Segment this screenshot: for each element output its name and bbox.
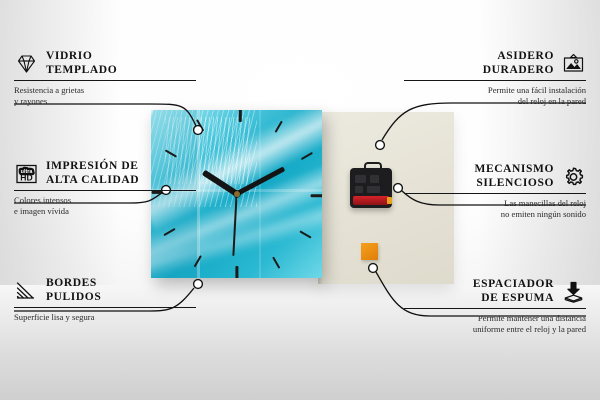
feature-title-line2: TEMPLADO [46, 64, 117, 78]
clock-tick [299, 230, 311, 239]
feature-desc-line1: Colores intensos [14, 195, 196, 206]
clock-tick [310, 194, 322, 197]
mechanism-slot-4 [367, 186, 380, 193]
feature-title-line1: ASIDERO [483, 50, 554, 64]
mechanism-slot-1 [355, 175, 366, 183]
feature-title-line1: BORDES [46, 277, 101, 291]
feature-bordes-pulidos[interactable]: BORDES PULIDOS Superficie lisa y segura [14, 277, 196, 323]
feature-desc-line1: Superficie lisa y segura [14, 312, 196, 323]
feature-desc-line2: uniforme entre el reloj y la pared [404, 324, 586, 335]
foam-spacer-sample [361, 243, 378, 260]
ultra-hd-icon: ultra HD [14, 162, 39, 186]
polished-edges-icon [14, 279, 39, 303]
feature-desc-line2: y rayones [14, 96, 196, 107]
feature-title-line2: DURADERO [483, 64, 554, 78]
clock-tick [274, 120, 283, 132]
svg-text:HD: HD [20, 172, 32, 182]
mechanism-hanger-hook [364, 162, 382, 172]
feature-title-line1: VIDRIO [46, 50, 117, 64]
feature-desc-line2: e imagen vívida [14, 206, 196, 217]
feature-divider [14, 80, 196, 81]
feature-vidrio-templado[interactable]: VIDRIO TEMPLADO Resistencia a grietas y … [14, 50, 196, 106]
feature-divider [14, 307, 196, 308]
clock-tick [235, 266, 238, 278]
feature-impresion-alta-calidad[interactable]: ultra HD IMPRESIÓN DE ALTA CALIDAD Color… [14, 160, 196, 216]
diamond-icon [14, 52, 39, 76]
feature-title-line2: SILENCIOSO [474, 177, 554, 191]
feature-espaciador-de-espuma[interactable]: ESPACIADOR DE ESPUMA Permite mantener un… [404, 278, 586, 334]
infographic-canvas: VIDRIO TEMPLADO Resistencia a grietas y … [0, 0, 600, 400]
clock-tick [163, 228, 175, 237]
feature-title-line1: ESPACIADOR [473, 278, 554, 292]
feature-title-line1: IMPRESIÓN DE [46, 160, 139, 174]
mechanism-slot-3 [355, 186, 363, 193]
feature-desc-line1: Permite una fácil instalación [404, 85, 586, 96]
press-down-pad-icon [561, 280, 586, 304]
battery-positive-terminal [387, 197, 392, 204]
feature-desc-line1: Las manecillas del reloj [404, 198, 586, 209]
clock-tick [238, 110, 241, 122]
clock-tick [164, 149, 176, 158]
feature-title-line2: PULIDOS [46, 291, 101, 305]
feature-desc-line2: no emiten ningún sonido [404, 209, 586, 220]
mechanism-slot-2 [370, 175, 379, 183]
feature-asidero-duradero[interactable]: ASIDERO DURADERO Permite una fácil insta… [404, 50, 586, 106]
gear-icon [561, 165, 586, 189]
clock-tick [272, 256, 281, 268]
clock-battery [353, 196, 389, 205]
feature-divider [404, 80, 586, 81]
clock-tick [195, 119, 204, 131]
picture-hanger-icon [561, 52, 586, 76]
feature-desc-line1: Permite mantener una distancia [404, 313, 586, 324]
feature-divider [404, 308, 586, 309]
feature-divider [14, 190, 196, 191]
feature-title-line2: DE ESPUMA [473, 292, 554, 306]
clock-tick [193, 255, 202, 267]
clock-center-pin [234, 191, 240, 197]
feature-title-line1: MECANISMO [474, 163, 554, 177]
feature-desc-line2: del reloj en la pared [404, 96, 586, 107]
feature-title-line2: ALTA CALIDAD [46, 174, 139, 188]
clock-tick [300, 152, 312, 161]
feature-divider [404, 193, 586, 194]
feature-desc-line1: Resistencia a grietas [14, 85, 196, 96]
feature-mecanismo-silencioso[interactable]: MECANISMO SILENCIOSO Las manecillas del … [404, 163, 586, 219]
